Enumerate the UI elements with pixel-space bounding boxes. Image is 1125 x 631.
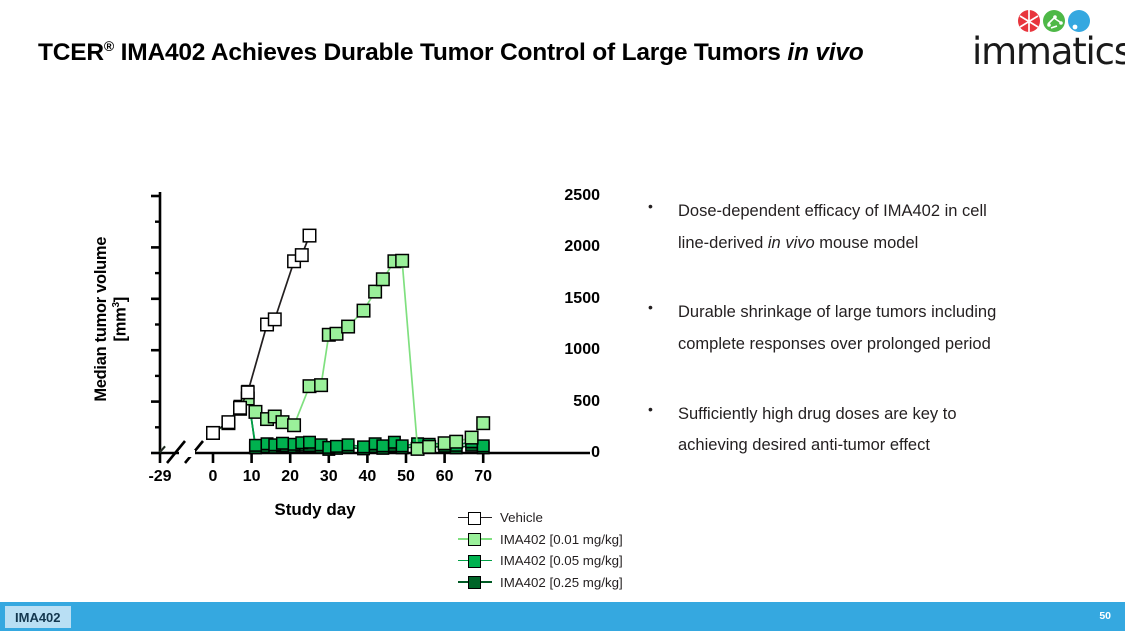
legend-swatch-icon <box>458 553 492 569</box>
x-axis-title: Study day <box>205 500 425 520</box>
x-tick-70: 70 <box>460 468 506 486</box>
y-tick-1500: 1500 <box>546 290 600 308</box>
footer-tag: IMA402 <box>5 606 71 628</box>
page-title-italic: in vivo <box>787 39 863 66</box>
logo-wordmark-text: immatics <box>972 30 1125 73</box>
bullet-text: Sufficiently high drug doses are key toa… <box>678 399 957 462</box>
tumor-volume-chart: Median tumor volume [mm3] 05001000150020… <box>55 180 600 535</box>
bullet-line-2: complete responses over prolonged period <box>678 329 996 361</box>
slide-footer: IMA402 50 <box>0 602 1125 631</box>
bullet-marker-icon: • <box>648 297 678 360</box>
x-tick--29: -29 <box>137 468 183 486</box>
legend-label: IMA402 [0.25 mg/kg] <box>500 575 623 590</box>
page-title-mid: IMA402 Achieves Durable Tumor Control of… <box>114 39 787 66</box>
page-title-pre: TCER <box>38 39 104 66</box>
legend-label: IMA402 [0.01 mg/kg] <box>500 532 623 547</box>
bullet-item-1: •Durable shrinkage of large tumors inclu… <box>648 297 1078 360</box>
bullet-line-2: line-derived in vivo mouse model <box>678 228 987 260</box>
legend-item-3: IMA402 [0.25 mg/kg] <box>458 572 623 594</box>
y-tick-0: 0 <box>546 444 600 462</box>
y-tick-500: 500 <box>546 393 600 411</box>
immatics-logo: immatics® <box>972 10 1104 72</box>
bullet-line-2: achieving desired anti-tumor effect <box>678 430 957 462</box>
bullet-line-1: Dose-dependent efficacy of IMA402 in cel… <box>678 196 987 228</box>
footer-page-number: 50 <box>1099 610 1111 622</box>
bullet-item-2: •Sufficiently high drug doses are key to… <box>648 399 1078 462</box>
plot-svg <box>55 180 600 490</box>
logo-wordmark: immatics® <box>972 30 1125 73</box>
registered-trademark-icon: ® <box>104 38 114 54</box>
y-tick-2500: 2500 <box>546 187 600 205</box>
page-title: TCER® IMA402 Achieves Durable Tumor Cont… <box>38 38 864 67</box>
legend-swatch-icon <box>458 510 492 526</box>
legend-item-1: IMA402 [0.01 mg/kg] <box>458 529 623 551</box>
bullet-marker-icon: • <box>648 399 678 462</box>
legend-swatch-icon <box>458 574 492 590</box>
legend-label: Vehicle <box>500 510 543 525</box>
bullet-line-1: Sufficiently high drug doses are key to <box>678 399 957 431</box>
bullet-text: Durable shrinkage of large tumors includ… <box>678 297 996 360</box>
bullet-list: •Dose-dependent efficacy of IMA402 in ce… <box>648 196 1078 500</box>
chart-legend: VehicleIMA402 [0.01 mg/kg]IMA402 [0.05 m… <box>458 507 623 593</box>
series-ima402-0-01-mg-kg- <box>160 255 489 456</box>
legend-item-2: IMA402 [0.05 mg/kg] <box>458 550 623 572</box>
plot-area <box>55 180 600 490</box>
y-tick-2000: 2000 <box>546 238 600 256</box>
slide-header: TCER® IMA402 Achieves Durable Tumor Cont… <box>0 0 1125 100</box>
bullet-line-1: Durable shrinkage of large tumors includ… <box>678 297 996 329</box>
bullet-marker-icon: • <box>648 196 678 259</box>
legend-item-0: Vehicle <box>458 507 623 529</box>
legend-label: IMA402 [0.05 mg/kg] <box>500 553 623 568</box>
y-tick-1000: 1000 <box>546 341 600 359</box>
bullet-text: Dose-dependent efficacy of IMA402 in cel… <box>678 196 987 259</box>
bullet-item-0: •Dose-dependent efficacy of IMA402 in ce… <box>648 196 1078 259</box>
legend-swatch-icon <box>458 531 492 547</box>
